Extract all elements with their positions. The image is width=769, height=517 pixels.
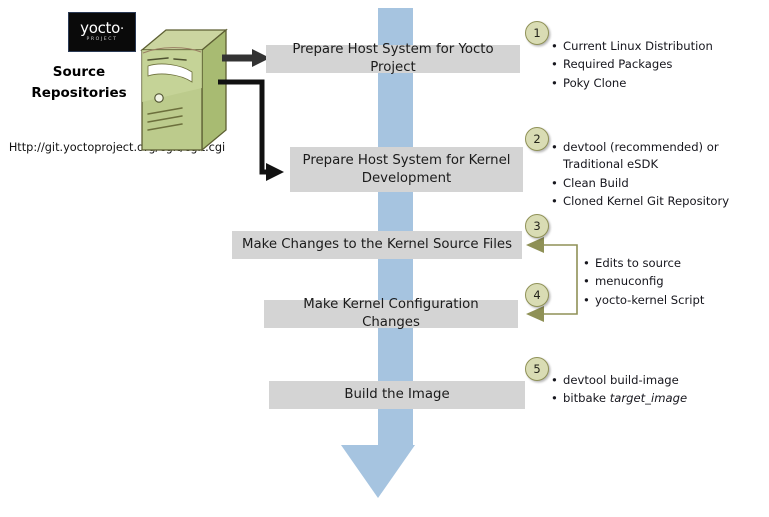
yocto-logo-dot: · [120, 22, 124, 37]
bullet-text: Poky Clone [563, 76, 626, 90]
process-box-make-config-changes[interactable]: Make Kernel Configuration Changes [264, 300, 518, 328]
step-badge-4: 4 [525, 283, 549, 307]
step-1-bullet-list: Current Linux Distribution Required Pack… [551, 38, 761, 93]
source-repositories-label-line1: Source [18, 62, 140, 83]
yocto-project-logo: yocto· PROJECT [68, 12, 136, 52]
steps-3-4-bullet-list: Edits to source menuconfig yocto-kernel … [583, 255, 763, 310]
step-badge-number: 3 [533, 219, 540, 233]
list-item: yocto-kernel Script [583, 292, 763, 309]
yocto-logo-wordmark: yocto· [80, 21, 124, 36]
list-item: devtool (recommended) or Traditional eSD… [551, 139, 763, 174]
list-item: Current Linux Distribution [551, 38, 761, 55]
list-item: devtool build-image [551, 372, 761, 389]
server-to-step2-arrow [218, 78, 284, 186]
bullet-text: yocto-kernel Script [595, 293, 704, 307]
bullet-text-italic: target_image [610, 391, 687, 405]
process-box-label: Make Changes to the Kernel Source Files [242, 236, 512, 254]
list-item: Edits to source [583, 255, 763, 272]
bullet-text: Clean Build [563, 176, 629, 190]
bullet-text: menuconfig [595, 274, 664, 288]
bullet-text: Current Linux Distribution [563, 39, 713, 53]
yocto-logo-subtitle: PROJECT [86, 38, 117, 43]
bullet-text: Required Packages [563, 57, 672, 71]
process-box-label: Build the Image [344, 386, 449, 404]
step-badge-1: 1 [525, 21, 549, 45]
source-repositories-label: Source Repositories [18, 62, 140, 104]
list-item: Poky Clone [551, 75, 761, 92]
step-badge-number: 2 [533, 132, 540, 146]
step-badge-number: 4 [533, 288, 540, 302]
process-box-label: Make Kernel Configuration Changes [274, 296, 508, 332]
main-flow-arrow-head [341, 445, 415, 498]
bullet-text: bitbake [563, 391, 610, 405]
process-box-label: Prepare Host System for Kernel Developme… [300, 152, 513, 188]
source-repositories-label-line2: Repositories [18, 83, 140, 104]
step-badge-number: 5 [533, 362, 540, 376]
step-2-bullet-list: devtool (recommended) or Traditional eSD… [551, 139, 763, 212]
list-item: menuconfig [583, 273, 763, 290]
process-box-build-image[interactable]: Build the Image [269, 381, 525, 409]
step-badge-3: 3 [525, 214, 549, 238]
process-box-label: Prepare Host System for Yocto Project [276, 41, 510, 77]
list-item: Cloned Kernel Git Repository [551, 193, 763, 210]
list-item: Required Packages [551, 56, 761, 73]
step-badge-2: 2 [525, 127, 549, 151]
step-5-bullet-list: devtool build-image bitbake target_image [551, 372, 761, 409]
process-box-make-source-changes[interactable]: Make Changes to the Kernel Source Files [232, 231, 522, 259]
step-badge-number: 1 [533, 26, 540, 40]
yocto-logo-word: yocto [80, 19, 120, 37]
step-badge-5: 5 [525, 357, 549, 381]
bullet-text: devtool (recommended) or Traditional eSD… [563, 140, 719, 171]
kernel-development-flow-diagram: yocto· PROJECT Source Repositories Http:… [0, 0, 769, 517]
steps-3-4-bracket-connector [520, 236, 586, 326]
server-icon [138, 28, 230, 154]
bullet-text: Cloned Kernel Git Repository [563, 194, 729, 208]
list-item: bitbake target_image [551, 390, 761, 407]
list-item: Clean Build [551, 175, 763, 192]
bullet-text: Edits to source [595, 256, 681, 270]
process-box-prepare-host-yocto[interactable]: Prepare Host System for Yocto Project [266, 45, 520, 73]
bullet-text: devtool build-image [563, 373, 679, 387]
process-box-prepare-host-kernel[interactable]: Prepare Host System for Kernel Developme… [290, 147, 523, 192]
